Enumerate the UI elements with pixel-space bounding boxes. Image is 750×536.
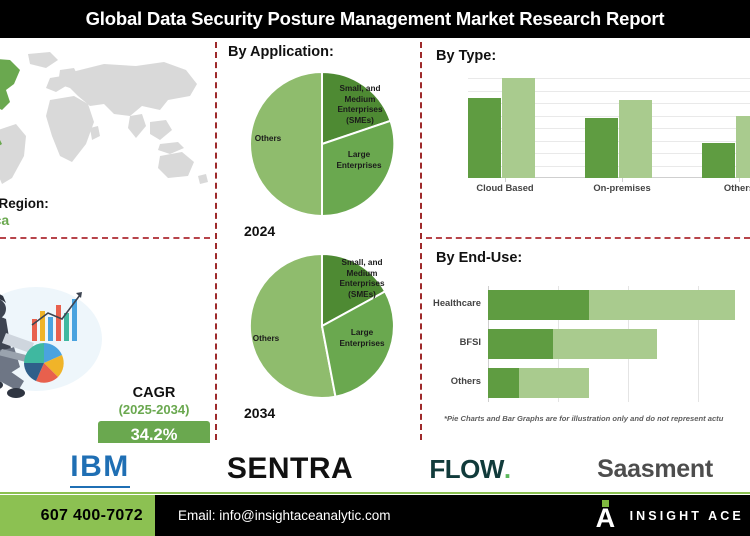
left-column: wing Region: merica xyxy=(0,38,213,443)
bar-cloud-based-dark xyxy=(468,98,501,178)
bar-others-endues-light xyxy=(519,368,589,398)
bar-row-label: BFSI xyxy=(460,336,481,347)
brand-letter-a: A xyxy=(596,505,616,532)
cagr-years: (2025-2034) xyxy=(98,402,210,418)
footer-phone-block: 607 400-7072 xyxy=(0,495,155,536)
bar-group-others: Others xyxy=(702,78,750,178)
pie-2024-year-label: 2024 xyxy=(244,223,275,239)
bar-bfsi-dark xyxy=(488,329,553,359)
by-type-title: By Type: xyxy=(436,48,496,64)
header-bar: Global Data Security Posture Management … xyxy=(0,0,750,38)
bar-group-on-premises: On-premises xyxy=(585,78,659,178)
logo-saasment: Saasment xyxy=(560,443,750,495)
footer-phone[interactable]: 607 400-7072 xyxy=(41,507,155,525)
bar-row-label: Others xyxy=(451,375,481,386)
partner-logos-strip: IBM SENTRA FLOW. Saasment xyxy=(0,443,750,495)
bar-on-premises-dark xyxy=(585,118,618,178)
page-title: Global Data Security Posture Management … xyxy=(86,8,665,30)
bar-on-premises-light xyxy=(619,100,652,178)
right-column: By Type: Cloud Based xyxy=(420,38,750,443)
brand-wordmark: INSIGHT ACE A xyxy=(630,509,750,523)
by-end-use-bar-chart: Healthcare BFSI Others xyxy=(488,286,750,402)
fastest-growing-region-block: wing Region: merica xyxy=(0,196,214,229)
bar-row-label: Healthcare xyxy=(433,297,481,308)
pie-chart-2024: Others Small, and Medium Enterprises (SM… xyxy=(246,68,398,220)
bar-others-dark xyxy=(702,143,735,178)
pie-2034-slice-label-large-enterprises: Large Enterprises xyxy=(320,328,404,349)
bar-others-light xyxy=(736,116,750,178)
bar-others-endues-dark xyxy=(488,368,519,398)
flow-dot-icon: . xyxy=(504,454,511,485)
body-area: wing Region: merica xyxy=(0,38,750,443)
bar-category-label: Cloud Based xyxy=(458,182,552,193)
cagr-block: CAGR (2025-2034) 34.2% xyxy=(98,385,210,451)
insight-ace-logo-icon: A xyxy=(596,501,618,531)
logo-flow: FLOW. xyxy=(380,443,560,495)
bar-cloud-based-light xyxy=(502,78,535,178)
sentra-wordmark: SENTRA xyxy=(227,452,353,486)
chart-footnote: *Pie Charts and Bar Graphs are for illus… xyxy=(444,414,723,423)
logo-sentra: SENTRA xyxy=(200,443,380,495)
by-application-title: By Application: xyxy=(228,44,334,60)
flow-wordmark: FLOW xyxy=(429,454,504,485)
saasment-wordmark: Saasment xyxy=(597,455,713,484)
bar-category-label: Others xyxy=(692,182,750,193)
world-map-icon xyxy=(0,44,212,194)
by-type-bar-chart: Cloud Based On-premises Others xyxy=(468,78,750,178)
bar-bfsi-light xyxy=(553,329,657,359)
cagr-title: CAGR xyxy=(98,385,210,402)
bar-category-label: On-premises xyxy=(575,182,669,193)
pie-chart-2034: Others Small, and Medium Enterprises (SM… xyxy=(246,250,398,402)
pie-2024-slice-label-large-enterprises: Large Enterprises xyxy=(318,150,400,171)
ibm-wordmark: IBM xyxy=(70,450,130,488)
pie-2034-year-label: 2034 xyxy=(244,405,275,421)
bar-row-bfsi: BFSI xyxy=(488,329,657,359)
green-rule xyxy=(0,492,750,494)
bar-group-cloud-based: Cloud Based xyxy=(468,78,542,178)
middle-column: By Application: Others Small, and Medium xyxy=(215,38,420,443)
bar-healthcare-light xyxy=(589,290,735,320)
bar-row-others: Others xyxy=(488,368,589,398)
analyst-illustration-icon xyxy=(0,281,108,411)
region-value: merica xyxy=(0,212,214,229)
region-label: wing Region: xyxy=(0,196,214,212)
footer-bar: 607 400-7072 Email: info@insightaceanaly… xyxy=(0,495,750,536)
by-end-use-title: By End-Use: xyxy=(436,250,522,266)
pie-2034-slice-label-others: Others xyxy=(218,334,314,345)
infographic-page: Global Data Security Posture Management … xyxy=(0,0,750,536)
bar-row-healthcare: Healthcare xyxy=(488,290,736,320)
logo-ibm: IBM xyxy=(0,443,200,495)
pie-2024-slice-label-smes: Small, and Medium Enterprises (SMEs) xyxy=(314,84,406,126)
footer-email[interactable]: Email: info@insightaceanalytic.com xyxy=(178,495,391,536)
pie-2034-slice-label-smes: Small, and Medium Enterprises (SMEs) xyxy=(316,258,408,300)
footer-brand: A INSIGHT ACE A xyxy=(596,495,750,536)
pie-2024-slice-label-others: Others xyxy=(220,134,316,145)
bar-healthcare-dark xyxy=(488,290,589,320)
